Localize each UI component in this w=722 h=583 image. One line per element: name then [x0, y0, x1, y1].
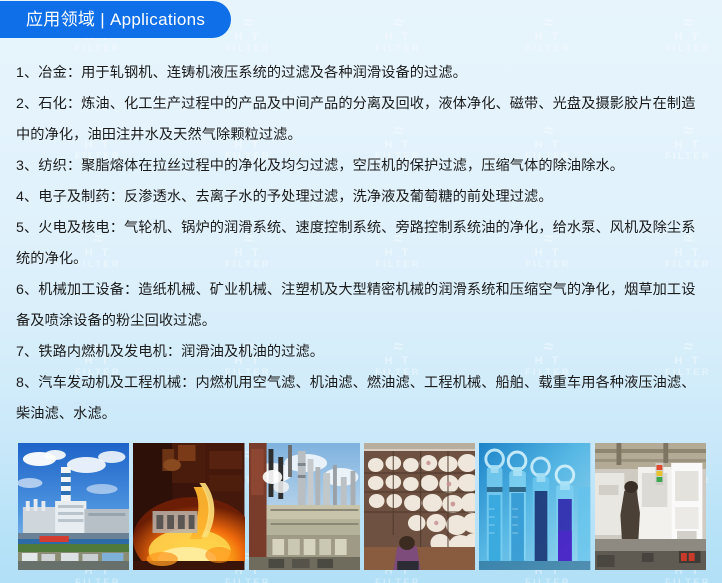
application-item-railway-engine-generator: 7、铁路内燃机及发电机：润滑油及机油的过滤。 — [16, 337, 706, 368]
watermark-logo-icon: ≈ — [486, 14, 610, 31]
watermark-filter-text: FILTER — [488, 577, 608, 583]
application-item-petrochemical: 2、石化：炼油、化工生产过程中的产品及中间产品的分离及回收，液体净化、磁带、光盘… — [16, 89, 706, 151]
watermark-ht-text: H T — [488, 31, 608, 43]
watermark-logo-icon: ≈ — [336, 14, 460, 31]
applications-page: ≈H TFILTER ≈H TFILTER ≈H TFILTER ≈H TFIL… — [0, 0, 722, 583]
cnc-machining-workshop-photo — [595, 443, 706, 570]
applications-list: 1、冶金：用于轧钢机、连铸机液压系统的过滤及各种润滑设备的过滤。 2、石化：炼油… — [16, 58, 706, 430]
application-item-textile: 3、纺织：聚脂熔体在拉丝过程中的净化及均匀过滤，空压机的保护过滤，压缩气体的除油… — [16, 151, 706, 182]
application-item-automotive-construction: 8、汽车发动机及工程机械：内燃机用空气滤、机油滤、燃油滤、工程机械、船舶、载重车… — [16, 368, 706, 430]
steel-mill-molten-metal-photo — [133, 443, 244, 570]
application-item-metallurgy: 1、冶金：用于轧钢机、连铸机液压系统的过滤及各种润滑设备的过滤。 — [16, 58, 706, 89]
application-item-thermal-nuclear-power: 5、火电及核电：气轮机、锅炉的润滑系统、速度控制系统、旁路控制系统油的净化，给水… — [16, 213, 706, 275]
watermark-filter-text: FILTER — [488, 43, 608, 53]
application-item-machining-equipment: 6、机械加工设备：造纸机械、矿业机械、注塑机及大型精密机械的润滑系统和压缩空气的… — [16, 275, 706, 337]
watermark-filter-text: FILTER — [38, 43, 158, 53]
watermark-ht-text: H T — [338, 31, 458, 43]
watermark-tile: ≈H TFILTER — [488, 14, 608, 53]
watermark-filter-text: FILTER — [628, 577, 722, 583]
application-item-electronics-pharma: 4、电子及制药：反渗透水、去离子水的予处理过滤，洗净液及葡萄糖的前处理过滤。 — [16, 182, 706, 213]
watermark-tile: ≈H TFILTER — [628, 14, 722, 53]
laboratory-glassware-photo — [479, 443, 590, 570]
textile-spinning-factory-photo — [364, 443, 475, 570]
watermark-ht-text: H T — [628, 31, 722, 43]
watermark-filter-text: FILTER — [628, 43, 722, 53]
section-title: 应用领域 | Applications — [26, 11, 205, 28]
section-header-tab: 应用领域 | Applications — [0, 1, 231, 38]
power-plant-photo — [18, 443, 129, 570]
watermark-filter-text: FILTER — [338, 43, 458, 53]
application-photo-strip — [18, 443, 706, 570]
watermark-logo-icon: ≈ — [626, 14, 722, 31]
watermark-filter-text: FILTER — [188, 577, 308, 583]
petrochemical-refinery-photo — [249, 443, 360, 570]
watermark-filter-text: FILTER — [38, 577, 158, 583]
watermark-tile: ≈H TFILTER — [338, 14, 458, 53]
watermark-filter-text: FILTER — [188, 43, 308, 53]
watermark-filter-text: FILTER — [338, 577, 458, 583]
